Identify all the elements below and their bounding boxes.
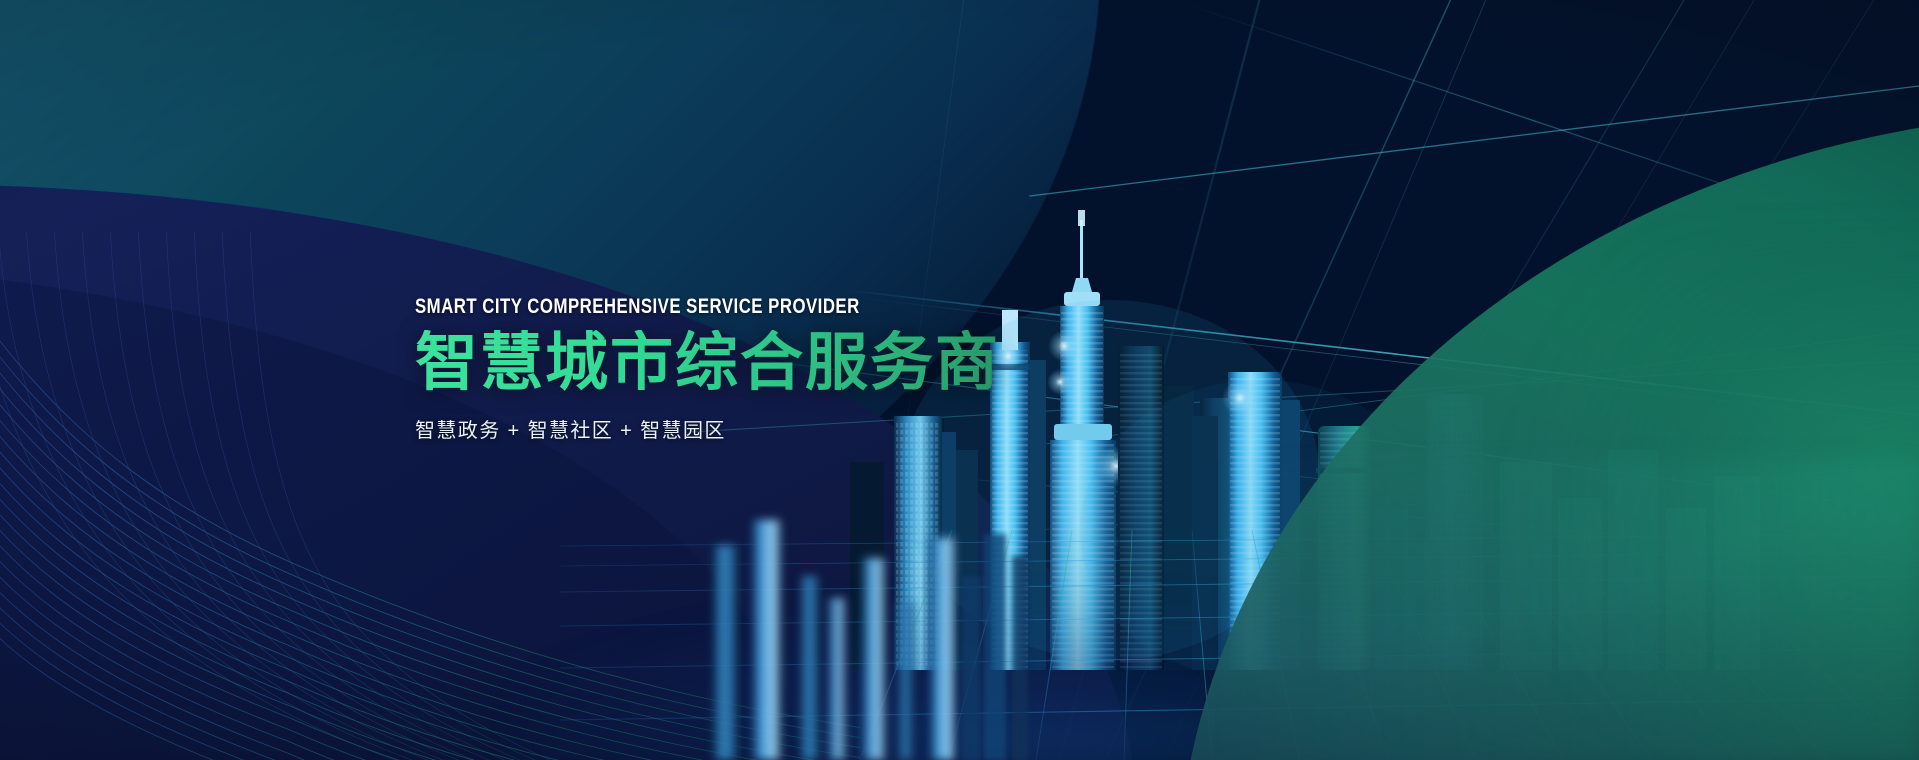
foreground-blurred-buildings <box>0 0 1919 760</box>
hero-banner: SMART CITY COMPREHENSIVE SERVICE PROVIDE… <box>0 0 1919 760</box>
